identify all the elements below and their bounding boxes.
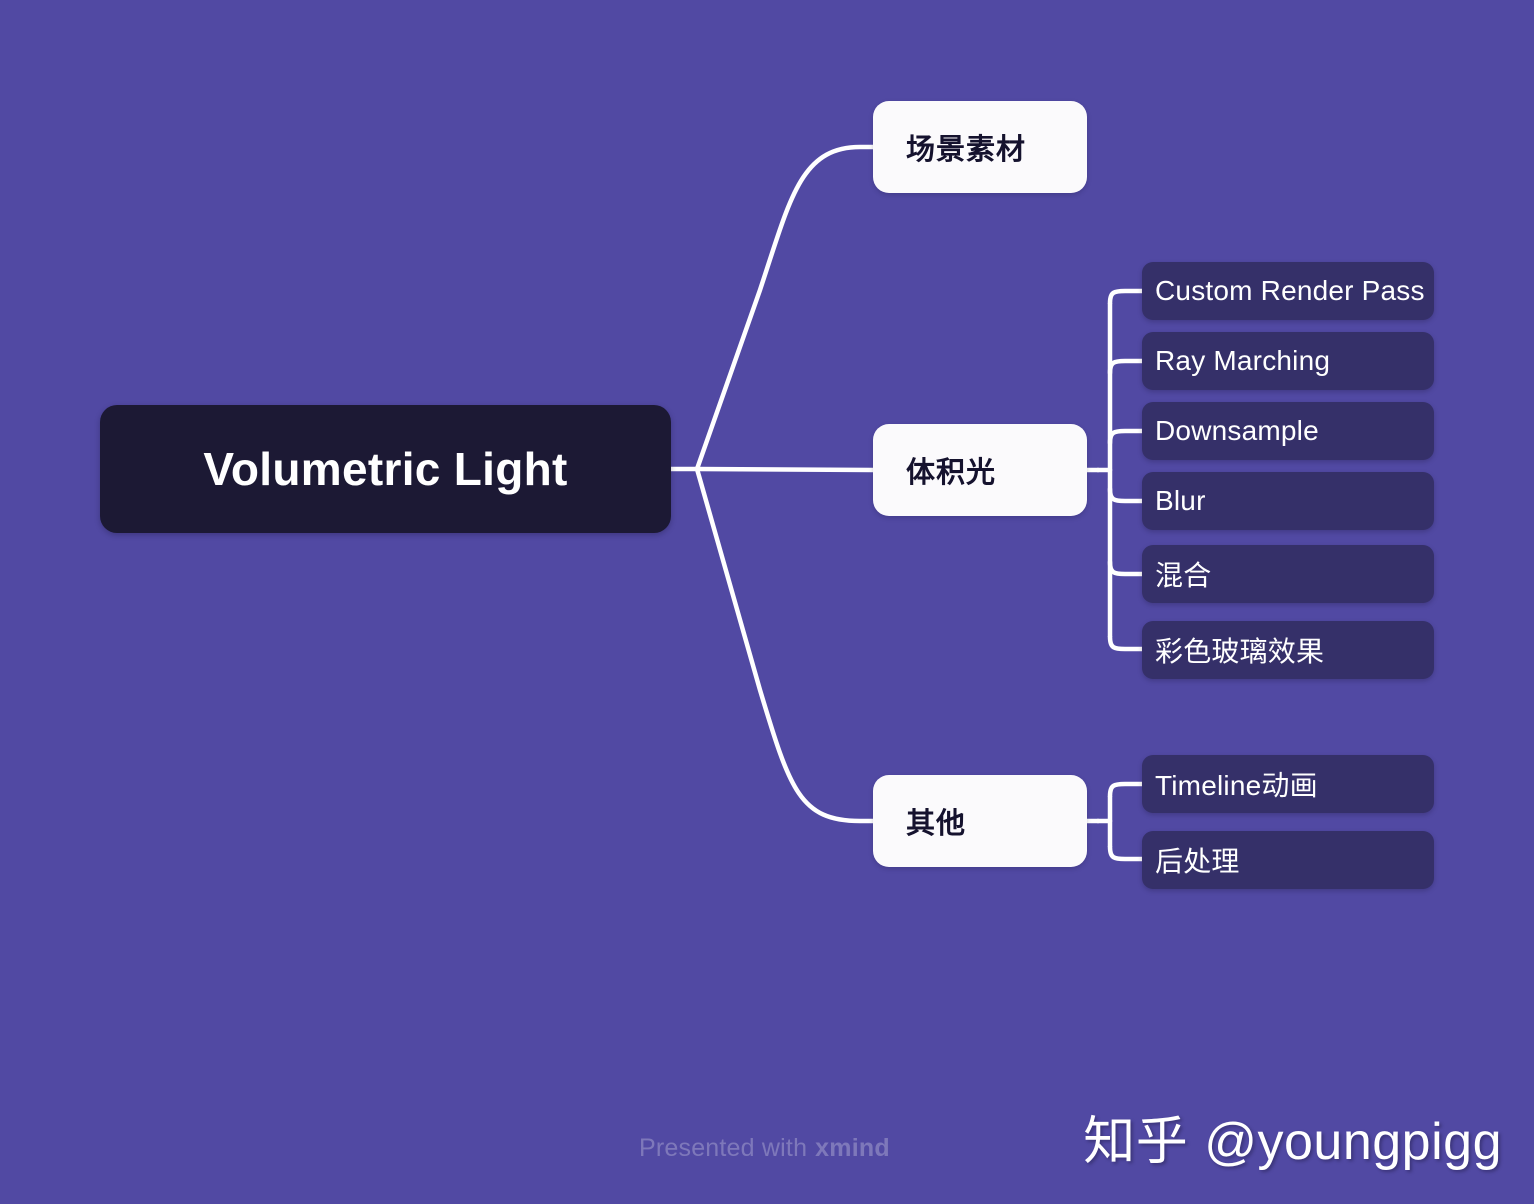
zhihu-attribution: 知乎 @youngpigg bbox=[1083, 1099, 1502, 1174]
leaf-node[interactable]: Custom Render Pass bbox=[1142, 262, 1434, 320]
leaf-node-label: Ray Marching bbox=[1155, 345, 1330, 377]
connector-root-to-branch-1 bbox=[697, 147, 873, 469]
mindmap-canvas: Volumetric Light 场景素材 体积光 其他 Custom Rend… bbox=[0, 0, 1534, 1204]
leaf-node-label: Downsample bbox=[1155, 415, 1319, 447]
connector-branch-2-to-leaf-3 bbox=[1110, 489, 1142, 501]
leaf-node[interactable]: 彩色玻璃效果 bbox=[1142, 621, 1434, 679]
connector-branch-2-to-leaf-5 bbox=[1110, 637, 1142, 649]
branch-node-label: 场景素材 bbox=[906, 126, 1026, 168]
connector-branch-2-to-leaf-0 bbox=[1110, 291, 1142, 303]
leaf-node[interactable]: 后处理 bbox=[1142, 831, 1434, 889]
branch-node-other[interactable]: 其他 bbox=[873, 775, 1087, 867]
connector-branch-3-to-leaf-7 bbox=[1110, 847, 1142, 859]
watermark-prefix-text: Presented with bbox=[639, 1134, 807, 1163]
leaf-node[interactable]: Blur bbox=[1142, 472, 1434, 530]
connector-branch-2-to-leaf-2 bbox=[1110, 431, 1142, 443]
xmind-watermark: Presented with xmind bbox=[639, 1134, 890, 1163]
leaf-node-label: Timeline动画 bbox=[1155, 764, 1318, 804]
leaf-node[interactable]: Downsample bbox=[1142, 402, 1434, 460]
attribution-platform-text: 知乎 bbox=[1083, 1099, 1188, 1174]
leaf-node[interactable]: Ray Marching bbox=[1142, 332, 1434, 390]
attribution-handle-text: @youngpigg bbox=[1204, 1112, 1502, 1172]
leaf-node-label: 彩色玻璃效果 bbox=[1155, 630, 1324, 670]
leaf-node[interactable]: 混合 bbox=[1142, 545, 1434, 603]
watermark-brand-text: xmind bbox=[815, 1134, 890, 1163]
connector-branch-2-to-leaf-1 bbox=[1110, 361, 1142, 373]
root-node[interactable]: Volumetric Light bbox=[100, 405, 671, 533]
leaf-node-label: 混合 bbox=[1155, 554, 1211, 594]
connector-root-to-branch-3 bbox=[697, 469, 873, 821]
leaf-node[interactable]: Timeline动画 bbox=[1142, 755, 1434, 813]
connector-root-to-branch-2 bbox=[697, 469, 873, 470]
leaf-node-label: Custom Render Pass bbox=[1155, 275, 1425, 307]
branch-node-volumetric[interactable]: 体积光 bbox=[873, 424, 1087, 516]
connector-branch-2-to-leaf-4 bbox=[1110, 562, 1142, 574]
branch-node-scene-assets[interactable]: 场景素材 bbox=[873, 101, 1087, 193]
branch-node-label: 其他 bbox=[906, 800, 966, 842]
branch-node-label: 体积光 bbox=[906, 449, 996, 491]
leaf-node-label: 后处理 bbox=[1155, 840, 1240, 880]
leaf-node-label: Blur bbox=[1155, 485, 1206, 517]
root-node-label: Volumetric Light bbox=[203, 442, 567, 496]
connector-branch-3-to-leaf-6 bbox=[1110, 784, 1142, 796]
